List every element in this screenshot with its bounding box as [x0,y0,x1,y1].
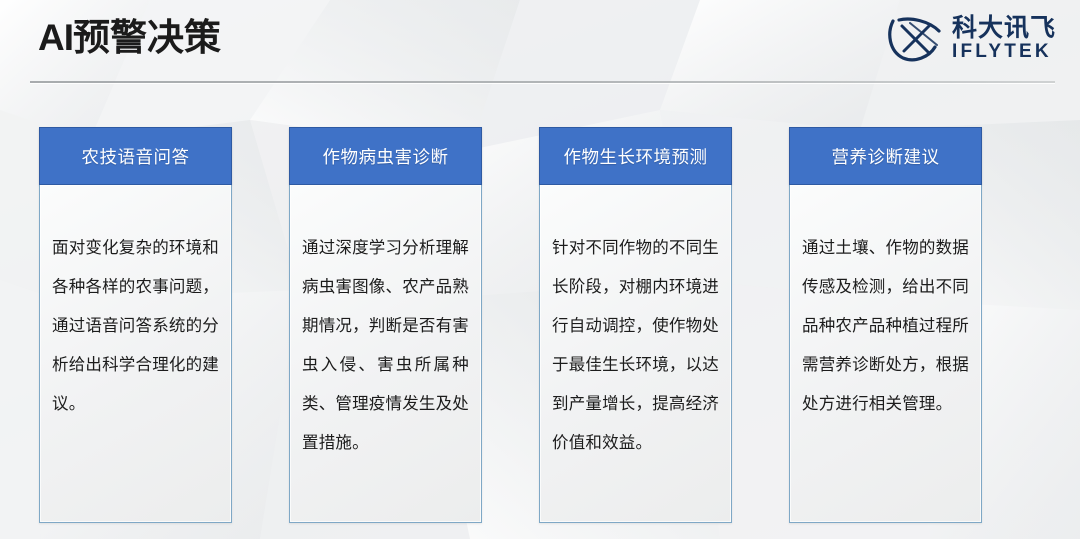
iflytek-name-cn: 科大讯飞 [952,15,1056,41]
page-title-cn: 预警决策 [73,17,221,58]
slide-root: AI预警决策 科大讯飞 IFLYTEK 农技语音问答 面对变化复杂的环境 [0,0,1080,539]
card-nutrition-diagnosis-advice[interactable]: 营养诊断建议 通过土壤、作物的数据传感及检测，给出不同品种农产品种植过程所需营养… [789,127,982,523]
page-title-ascii: AI [38,17,73,58]
card-agri-voice-qa[interactable]: 农技语音问答 面对变化复杂的环境和各种各样的农事问题，通过语音问答系统的分析给出… [39,127,232,523]
iflytek-name-en: IFLYTEK [952,41,1056,63]
card-body-agri-voice-qa: 面对变化复杂的环境和各种各样的农事问题，通过语音问答系统的分析给出科学合理化的建… [39,185,232,523]
header-divider-highlight [30,83,1055,84]
card-crop-pest-diagnosis[interactable]: 作物病虫害诊断 通过深度学习分析理解病虫害图像、农产品熟期情况，判断是否有害虫入… [289,127,482,523]
card-header-nutrition-diagnosis-advice: 营养诊断建议 [789,127,982,185]
iflytek-logo-text: 科大讯飞 IFLYTEK [952,15,1056,63]
card-title: 农技语音问答 [82,144,190,169]
card-description: 针对不同作物的不同生长阶段，对棚内环境进行自动调控，使作物处于最佳生长环境，以达… [552,229,719,463]
iflytek-mark-icon [885,15,945,63]
card-description: 通过深度学习分析理解病虫害图像、农产品熟期情况，判断是否有害虫入侵、害虫所属种类… [302,229,469,463]
page-title: AI预警决策 [38,13,221,63]
card-title: 作物病虫害诊断 [323,144,449,169]
card-header-agri-voice-qa: 农技语音问答 [39,127,232,185]
slide-header: AI预警决策 科大讯飞 IFLYTEK [0,0,1080,90]
card-header-crop-growth-env-forecast: 作物生长环境预测 [539,127,732,185]
card-body-crop-pest-diagnosis: 通过深度学习分析理解病虫害图像、农产品熟期情况，判断是否有害虫入侵、害虫所属种类… [289,185,482,523]
card-crop-growth-env-forecast[interactable]: 作物生长环境预测 针对不同作物的不同生长阶段，对棚内环境进行自动调控，使作物处于… [539,127,732,523]
card-body-nutrition-diagnosis-advice: 通过土壤、作物的数据传感及检测，给出不同品种农产品种植过程所需营养诊断处方，根据… [789,185,982,523]
card-body-crop-growth-env-forecast: 针对不同作物的不同生长阶段，对棚内环境进行自动调控，使作物处于最佳生长环境，以达… [539,185,732,523]
card-description: 面对变化复杂的环境和各种各样的农事问题，通过语音问答系统的分析给出科学合理化的建… [52,229,219,424]
card-description: 通过土壤、作物的数据传感及检测，给出不同品种农产品种植过程所需营养诊断处方，根据… [802,229,969,424]
iflytek-logo: 科大讯飞 IFLYTEK [885,10,1056,68]
card-header-crop-pest-diagnosis: 作物病虫害诊断 [289,127,482,185]
card-title: 作物生长环境预测 [564,144,708,169]
card-grid: 农技语音问答 面对变化复杂的环境和各种各样的农事问题，通过语音问答系统的分析给出… [39,127,1017,523]
card-title: 营养诊断建议 [832,144,940,169]
